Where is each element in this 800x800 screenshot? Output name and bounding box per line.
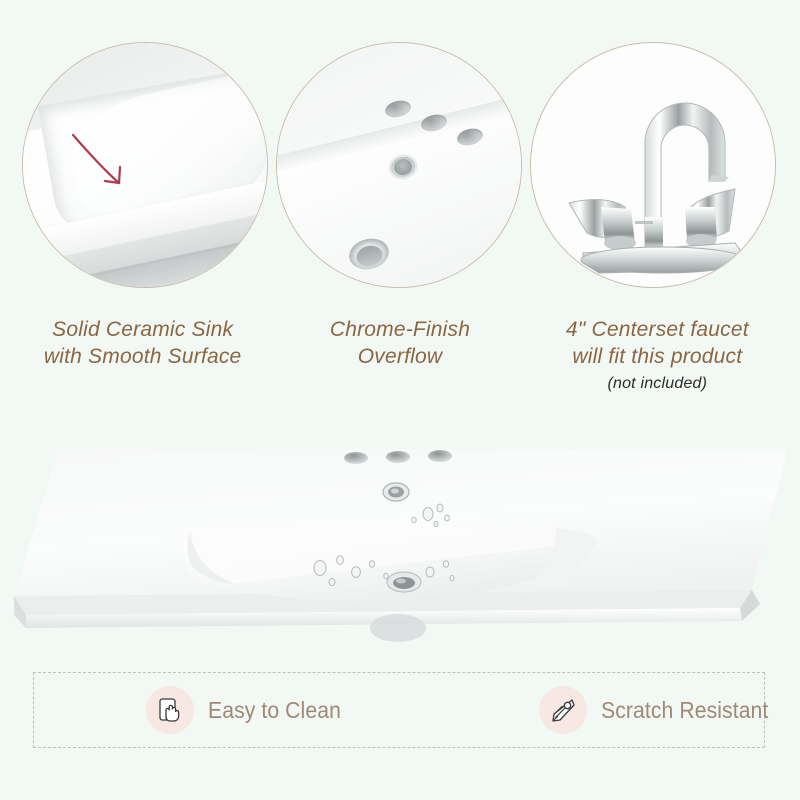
drain-core (354, 243, 384, 269)
utility-knife-icon (539, 686, 587, 734)
caption-faucet: 4" Centerset faucet will fit this produc… (529, 316, 786, 416)
caption-row: Solid Ceramic Sink with Smooth Surface C… (0, 316, 800, 416)
detail-card-overflow (276, 42, 524, 292)
feature-easy-to-clean: Easy to Clean (146, 686, 353, 734)
caption-line-2: with Smooth Surface (44, 345, 242, 368)
ceramic-surface-closeup (22, 42, 268, 288)
ceramic-vanity-top-sink (0, 432, 800, 642)
feature-label: Easy to Clean (208, 697, 341, 724)
pointer-arrow-icon (71, 131, 141, 193)
caption-line-1: Solid Ceramic Sink (52, 318, 233, 341)
hero-product-image (0, 432, 800, 642)
caption-note: (not included) (529, 372, 786, 396)
caption-line-1: Chrome-Finish (330, 318, 470, 341)
overflow-core (392, 157, 413, 177)
detail-card-ceramic-surface (22, 42, 270, 292)
feature-scratch-resistant: Scratch Resistant (539, 686, 783, 734)
infographic-page: Solid Ceramic Sink with Smooth Surface C… (0, 0, 800, 800)
feature-bar: Easy to Clean Scratch Resistant (33, 672, 765, 748)
caption-line-2: Overflow (358, 345, 442, 368)
caption-line-2: will fit this product (572, 345, 742, 368)
overflow-closeup (276, 42, 522, 288)
detail-photo-row (0, 42, 800, 292)
detail-card-faucet (530, 42, 778, 292)
chrome-centerset-faucet-icon (539, 57, 767, 281)
caption-ceramic-sink: Solid Ceramic Sink with Smooth Surface (14, 316, 271, 416)
feature-label: Scratch Resistant (601, 697, 768, 724)
wiping-hand-icon (146, 686, 194, 734)
caption-line-1: 4" Centerset faucet (566, 318, 749, 341)
caption-overflow: Chrome-Finish Overflow (271, 316, 528, 416)
faucet-closeup (530, 42, 776, 288)
